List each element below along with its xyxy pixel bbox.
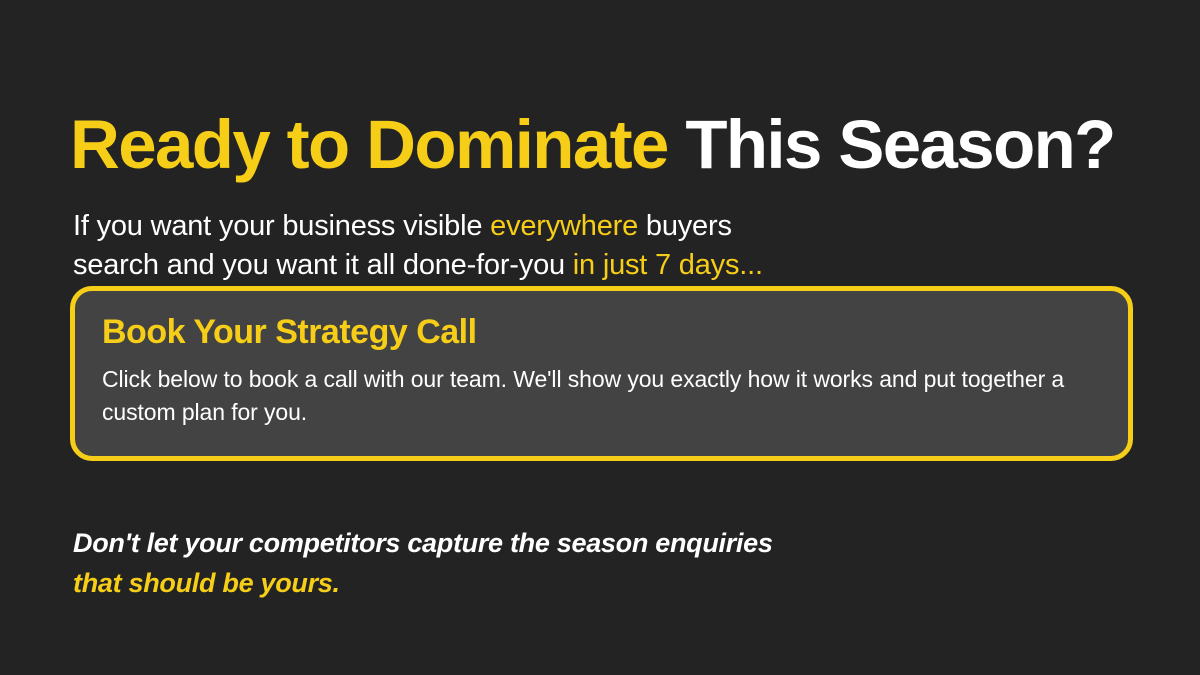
subheading-line-2-text-a: search and you want it all done-for-you xyxy=(73,249,573,281)
closing-line-1: Don't let your competitors capture the s… xyxy=(73,523,773,563)
strategy-call-card[interactable]: Book Your Strategy Call Click below to b… xyxy=(70,286,1133,461)
subheading-highlight-timeframe: in just 7 days... xyxy=(573,249,763,281)
subheading-line-1-text-a: If you want your business visible xyxy=(73,210,490,242)
slide-canvas: Ready to Dominate This Season? If you wa… xyxy=(0,0,1200,675)
page-title-space xyxy=(668,106,686,183)
subheading-line-2: search and you want it all done-for-you … xyxy=(73,249,763,281)
subheading-paragraph: If you want your business visible everyw… xyxy=(73,207,763,285)
page-title: Ready to Dominate This Season? xyxy=(70,110,1115,179)
card-title: Book Your Strategy Call xyxy=(102,315,1100,351)
closing-statement: Don't let your competitors capture the s… xyxy=(73,523,773,603)
subheading-line-1: If you want your business visible everyw… xyxy=(73,210,732,242)
closing-line-2: that should be yours. xyxy=(73,563,773,603)
card-description: Click below to book a call with our team… xyxy=(102,363,1100,429)
page-title-plain: This Season? xyxy=(685,106,1114,183)
page-title-accent: Ready to Dominate xyxy=(70,106,668,183)
subheading-line-1-text-b: buyers xyxy=(638,210,732,242)
subheading-highlight-everywhere: everywhere xyxy=(490,210,638,242)
